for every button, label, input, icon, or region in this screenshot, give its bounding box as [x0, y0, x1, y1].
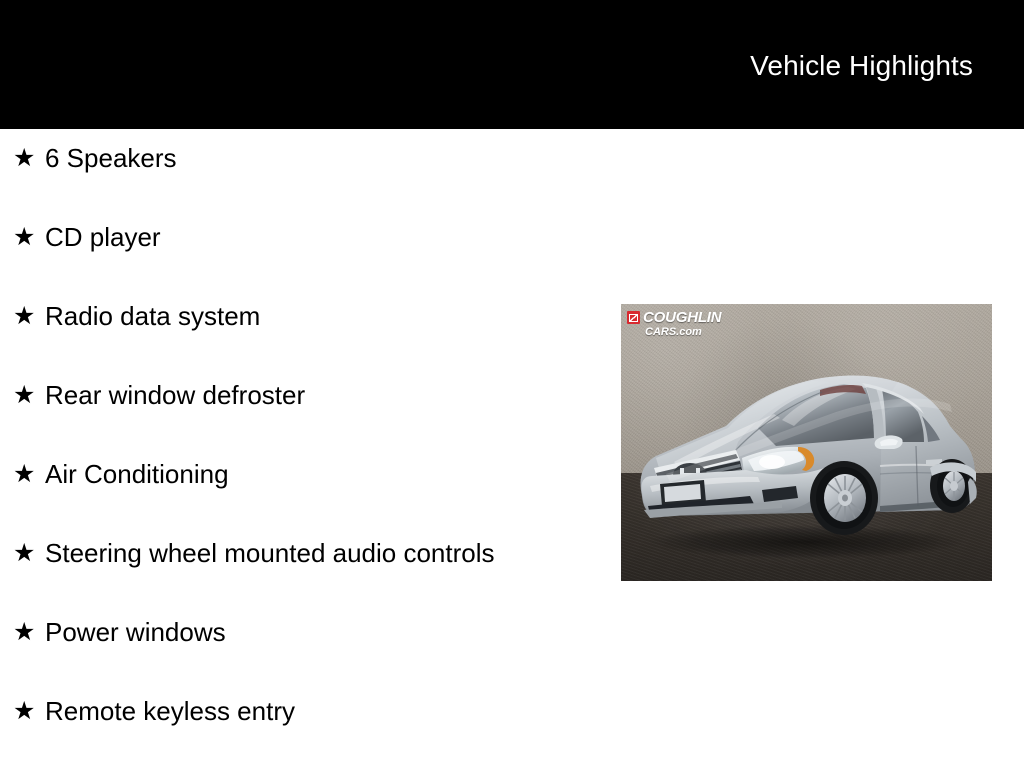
- list-item: ★ Rear window defroster: [0, 366, 620, 445]
- highlight-label: 6 Speakers: [45, 129, 177, 187]
- watermark-sub: CARS.com: [645, 326, 702, 338]
- star-icon: ★: [13, 208, 37, 266]
- header-bar: Vehicle Highlights: [0, 0, 1024, 129]
- list-item: ★ Power windows: [0, 603, 620, 682]
- highlight-label: Power windows: [45, 603, 226, 661]
- car-illustration: [630, 346, 982, 561]
- list-item: ★ Remote keyless entry: [0, 682, 620, 761]
- vehicle-photo[interactable]: COUGHLIN CARS.com: [621, 304, 992, 581]
- highlight-label: CD player: [45, 208, 161, 266]
- star-icon: ★: [13, 445, 37, 503]
- star-icon: ★: [13, 682, 37, 740]
- highlight-label: Steering wheel mounted audio controls: [45, 524, 495, 582]
- list-item: ★ Air Conditioning: [0, 445, 620, 524]
- highlight-label: Radio data system: [45, 287, 260, 345]
- dealer-watermark: COUGHLIN CARS.com: [627, 310, 721, 338]
- list-item: ★ Radio data system: [0, 287, 620, 366]
- star-icon: ★: [13, 287, 37, 345]
- list-item: ★ CD player: [0, 208, 620, 287]
- highlight-label: Remote keyless entry: [45, 682, 295, 740]
- coughlin-logo-icon: [627, 311, 640, 324]
- list-item: ★ Steering wheel mounted audio controls: [0, 524, 620, 603]
- star-icon: ★: [13, 524, 37, 582]
- page-title: Vehicle Highlights: [750, 49, 973, 83]
- highlight-label: Rear window defroster: [45, 366, 305, 424]
- list-item: ★ 6 Speakers: [0, 129, 620, 208]
- highlight-label: Air Conditioning: [45, 445, 229, 503]
- star-icon: ★: [13, 129, 37, 187]
- star-icon: ★: [13, 603, 37, 661]
- watermark-brand: COUGHLIN: [643, 310, 721, 325]
- star-icon: ★: [13, 366, 37, 424]
- vehicle-highlights-list: ★ 6 Speakers ★ CD player ★ Radio data sy…: [0, 129, 620, 761]
